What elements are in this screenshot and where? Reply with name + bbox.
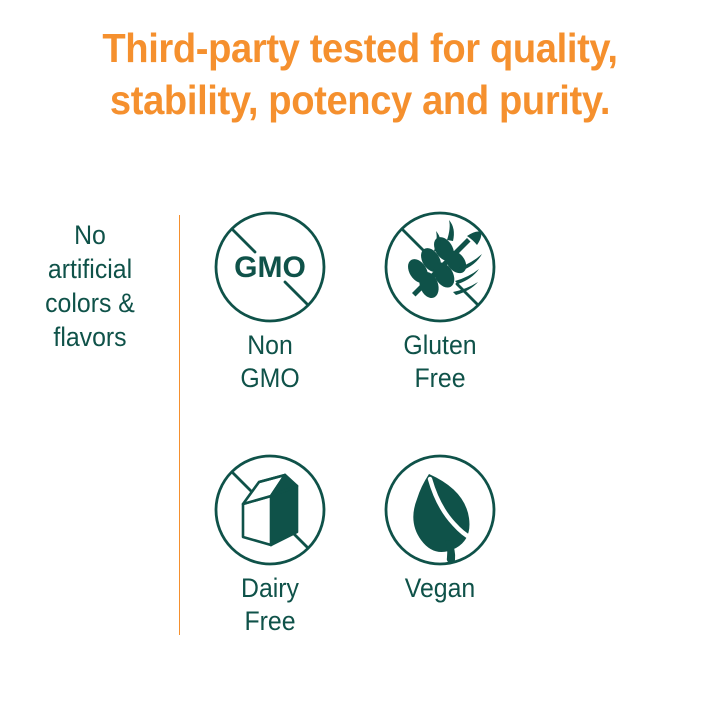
- infographic-canvas: Third-party tested for quality, stabilit…: [0, 0, 720, 720]
- vertical-divider: [179, 215, 180, 635]
- badge-label-line-1: Gluten: [362, 329, 518, 362]
- badge-label-line-1: Non: [192, 329, 348, 362]
- badge-label-dairy-free: Dairy Free: [192, 572, 348, 638]
- badge-label-line-2: Free: [362, 362, 518, 395]
- badge-label-vegan: Vegan: [362, 572, 518, 605]
- claim-line-1: No: [22, 218, 158, 252]
- no-milk-carton-icon: [185, 448, 355, 570]
- no-wheat-icon: [355, 205, 525, 327]
- page-title: Third-party tested for quality, stabilit…: [25, 22, 695, 126]
- claim-line-3: colors &: [22, 286, 158, 320]
- headline-line-2: stability, potency and purity.: [25, 74, 695, 126]
- badge-label-line-2: Free: [192, 605, 348, 638]
- badge-label-line-1: Vegan: [362, 572, 518, 605]
- badge-label-gluten-free: Gluten Free: [362, 329, 518, 395]
- no-gmo-icon: GMO: [185, 205, 355, 327]
- badge-gluten-free: Gluten Free: [355, 205, 525, 395]
- badge-label-non-gmo: Non GMO: [192, 329, 348, 395]
- badge-label-line-2: GMO: [192, 362, 348, 395]
- certification-badge-grid: GMO Non GMO: [196, 205, 526, 665]
- badge-label-line-1: Dairy: [192, 572, 348, 605]
- badge-dairy-free: Dairy Free: [185, 448, 355, 638]
- no-artificial-claim: No artificial colors & flavors: [22, 218, 158, 354]
- badge-non-gmo: GMO Non GMO: [185, 205, 355, 395]
- gmo-label: GMO: [234, 251, 306, 284]
- claim-line-4: flavors: [22, 320, 158, 354]
- badge-vegan: Vegan: [355, 448, 525, 605]
- headline-line-1: Third-party tested for quality,: [25, 22, 695, 74]
- leaf-icon: [355, 448, 525, 570]
- claim-line-2: artificial: [22, 252, 158, 286]
